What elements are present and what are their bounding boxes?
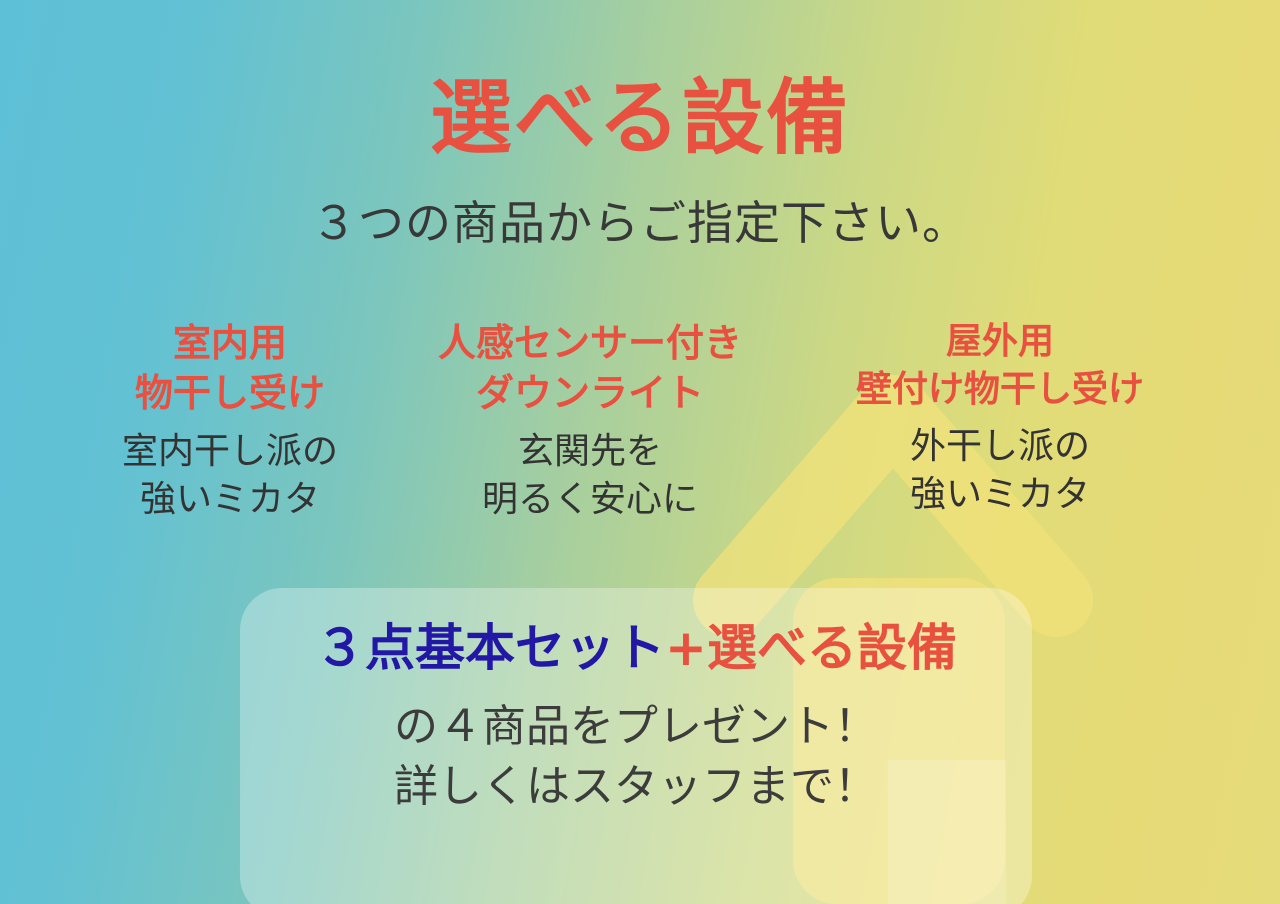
- promo-line-gift: の４商品をプレゼント！: [240, 705, 1032, 749]
- option-name-line: 室内用: [70, 318, 390, 368]
- option-name-line: 人感センサー付き: [390, 318, 790, 368]
- option-description: 外干し派の 強いミカタ: [790, 423, 1210, 518]
- option-desc-line: 玄関先を: [390, 428, 790, 476]
- option-desc-line: 強いミカタ: [790, 471, 1210, 519]
- page-title: 選べる設備: [0, 78, 1280, 160]
- option-desc-line: 強いミカタ: [70, 476, 390, 524]
- option-name: 屋外用 壁付け物干し受け: [790, 318, 1210, 413]
- option-name-line: 屋外用: [790, 318, 1210, 366]
- option-card-outdoor[interactable]: 屋外用 壁付け物干し受け 外干し派の 強いミカタ: [790, 318, 1210, 518]
- option-card-downlight[interactable]: 人感センサー付き ダウンライト 玄関先を 明るく安心に: [390, 318, 790, 523]
- option-description: 室内干し派の 強いミカタ: [70, 428, 390, 523]
- option-description: 玄関先を 明るく安心に: [390, 428, 790, 523]
- option-desc-line: 室内干し派の: [70, 428, 390, 476]
- option-desc-line: 外干し派の: [790, 423, 1210, 471]
- promo-headline-set: ３点基本セット: [315, 619, 665, 677]
- options-row: 室内用 物干し受け 室内干し派の 強いミカタ 人感センサー付き ダウンライト 玄…: [0, 318, 1280, 523]
- page-subtitle: ３つの商品からご指定下さい。: [0, 200, 1280, 246]
- poster-content: 選べる設備 ３つの商品からご指定下さい。 室内用 物干し受け 室内干し派の 強い…: [0, 0, 1280, 904]
- promo-line-contact: 詳しくはスタッフまで！: [240, 765, 1032, 809]
- promo-poster: 選べる設備 ３つの商品からご指定下さい。 室内用 物干し受け 室内干し派の 強い…: [0, 0, 1280, 904]
- option-name-line: 壁付け物干し受け: [790, 366, 1210, 414]
- option-name: 室内用 物干し受け: [70, 318, 390, 418]
- promo-headline: ３点基本セット+選べる設備: [240, 623, 1032, 673]
- option-name: 人感センサー付き ダウンライト: [390, 318, 790, 418]
- option-name-line: ダウンライト: [390, 368, 790, 418]
- promo-headline-equipment: 選べる設備: [707, 619, 957, 677]
- option-desc-line: 明るく安心に: [390, 476, 790, 524]
- promo-headline-plus: +: [665, 619, 707, 677]
- option-name-line: 物干し受け: [70, 368, 390, 418]
- option-card-indoor[interactable]: 室内用 物干し受け 室内干し派の 強いミカタ: [70, 318, 390, 523]
